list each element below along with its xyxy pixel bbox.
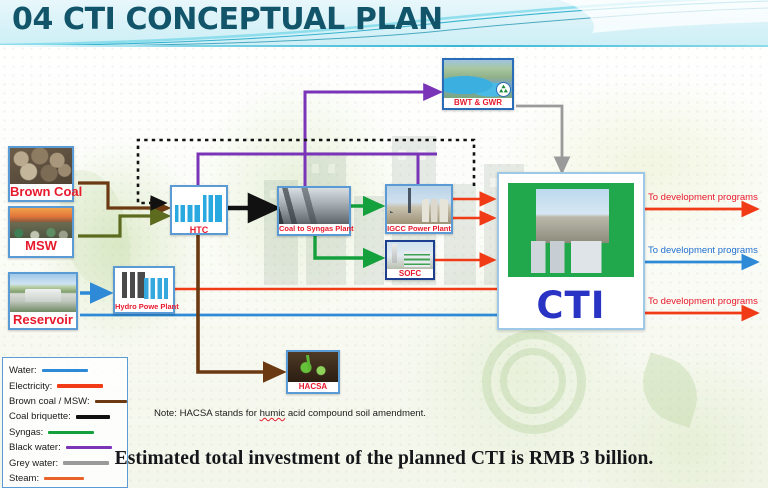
cti-facility-photo [531,241,612,273]
node-label: SOFC [387,269,433,280]
node-label: IGCC Power Plant [387,224,451,234]
legend-item: Electricity: [9,378,127,393]
node-label: HTC [172,225,226,237]
page-title: 04 CTI CONCEPTUAL PLAN [12,2,443,37]
legend-item: Steam: [9,471,127,486]
note-underlined-word: humic [260,408,286,419]
header-divider [0,45,768,47]
hydro-plant-thumbnail [115,268,173,302]
note-suffix: acid compound soil amendment. [285,408,426,419]
slide-canvas: 04 CTI CONCEPTUAL PLAN [0,0,768,488]
legend-label: Steam: [9,473,39,484]
hacsa-thumbnail [288,352,338,382]
node-label: BWT & GWR [444,98,512,109]
node-label: Hydro Powe Plant [115,302,173,312]
hacsa-note: Note: HACSA stands for humic acid compou… [154,408,426,419]
node-msw[interactable]: MSW [8,206,74,258]
node-label: Reservoir [10,312,76,329]
output-label-1: To development programs [648,192,758,203]
output-label-2: To development programs [648,245,758,256]
note-prefix: Note: HACSA stands for [154,408,260,419]
legend-swatch-electricity [57,384,103,387]
node-hacsa[interactable]: HACSA [286,350,340,394]
igcc-thumbnail [387,186,451,224]
investment-statement: Estimated total investment of the planne… [0,448,768,470]
legend-swatch-syngas [48,431,94,434]
background-circle-decor [500,348,566,414]
legend-swatch-coal-briquette [76,415,110,419]
node-label: Brown Coal [10,184,72,201]
output-label-3: To development programs [648,296,758,307]
recycle-icon [496,82,511,97]
node-coal-to-syngas-plant[interactable]: Coal to Syngas Plant [277,186,351,236]
node-cti[interactable]: CTI [497,172,645,330]
node-sofc[interactable]: SOFC [385,240,435,280]
legend-label: Electricity: [9,381,52,392]
cti-image-panel [508,183,634,277]
legend-swatch-steam [44,477,84,480]
legend-swatch-water [42,369,88,372]
bwt-gwr-thumbnail [444,60,512,98]
legend-label: Brown coal / MSW: [9,396,90,407]
node-htc[interactable]: HTC [170,185,228,235]
syngas-plant-thumbnail [279,188,349,224]
legend-label: Water: [9,365,37,376]
node-reservoir[interactable]: Reservoir [8,272,78,330]
node-label: MSW [10,238,72,255]
cti-plant-photo [536,189,609,244]
legend-label: Coal briquette: [9,411,71,422]
legend-swatch-brown-coal [95,400,127,403]
node-label: Coal to Syngas Plant [279,224,349,234]
htc-thumbnail [172,187,226,225]
node-label: HACSA [288,382,338,393]
slide-header: 04 CTI CONCEPTUAL PLAN [0,0,768,46]
legend-item: Water: [9,363,127,378]
legend-item: Coal briquette: [9,409,127,424]
brown-coal-thumbnail [10,148,72,184]
legend-item: Syngas: [9,425,127,440]
legend-label: Syngas: [9,427,43,438]
cti-label: CTI [499,287,643,324]
node-igcc-power-plant[interactable]: IGCC Power Plant [385,184,453,234]
node-hydro-power-plant[interactable]: Hydro Powe Plant [113,266,175,314]
legend-item: Brown coal / MSW: [9,394,127,409]
reservoir-thumbnail [10,274,76,312]
node-bwt-gwr[interactable]: BWT & GWR [442,58,514,110]
msw-thumbnail [10,208,72,238]
sofc-thumbnail [387,242,433,269]
node-brown-coal[interactable]: Brown Coal [8,146,74,202]
